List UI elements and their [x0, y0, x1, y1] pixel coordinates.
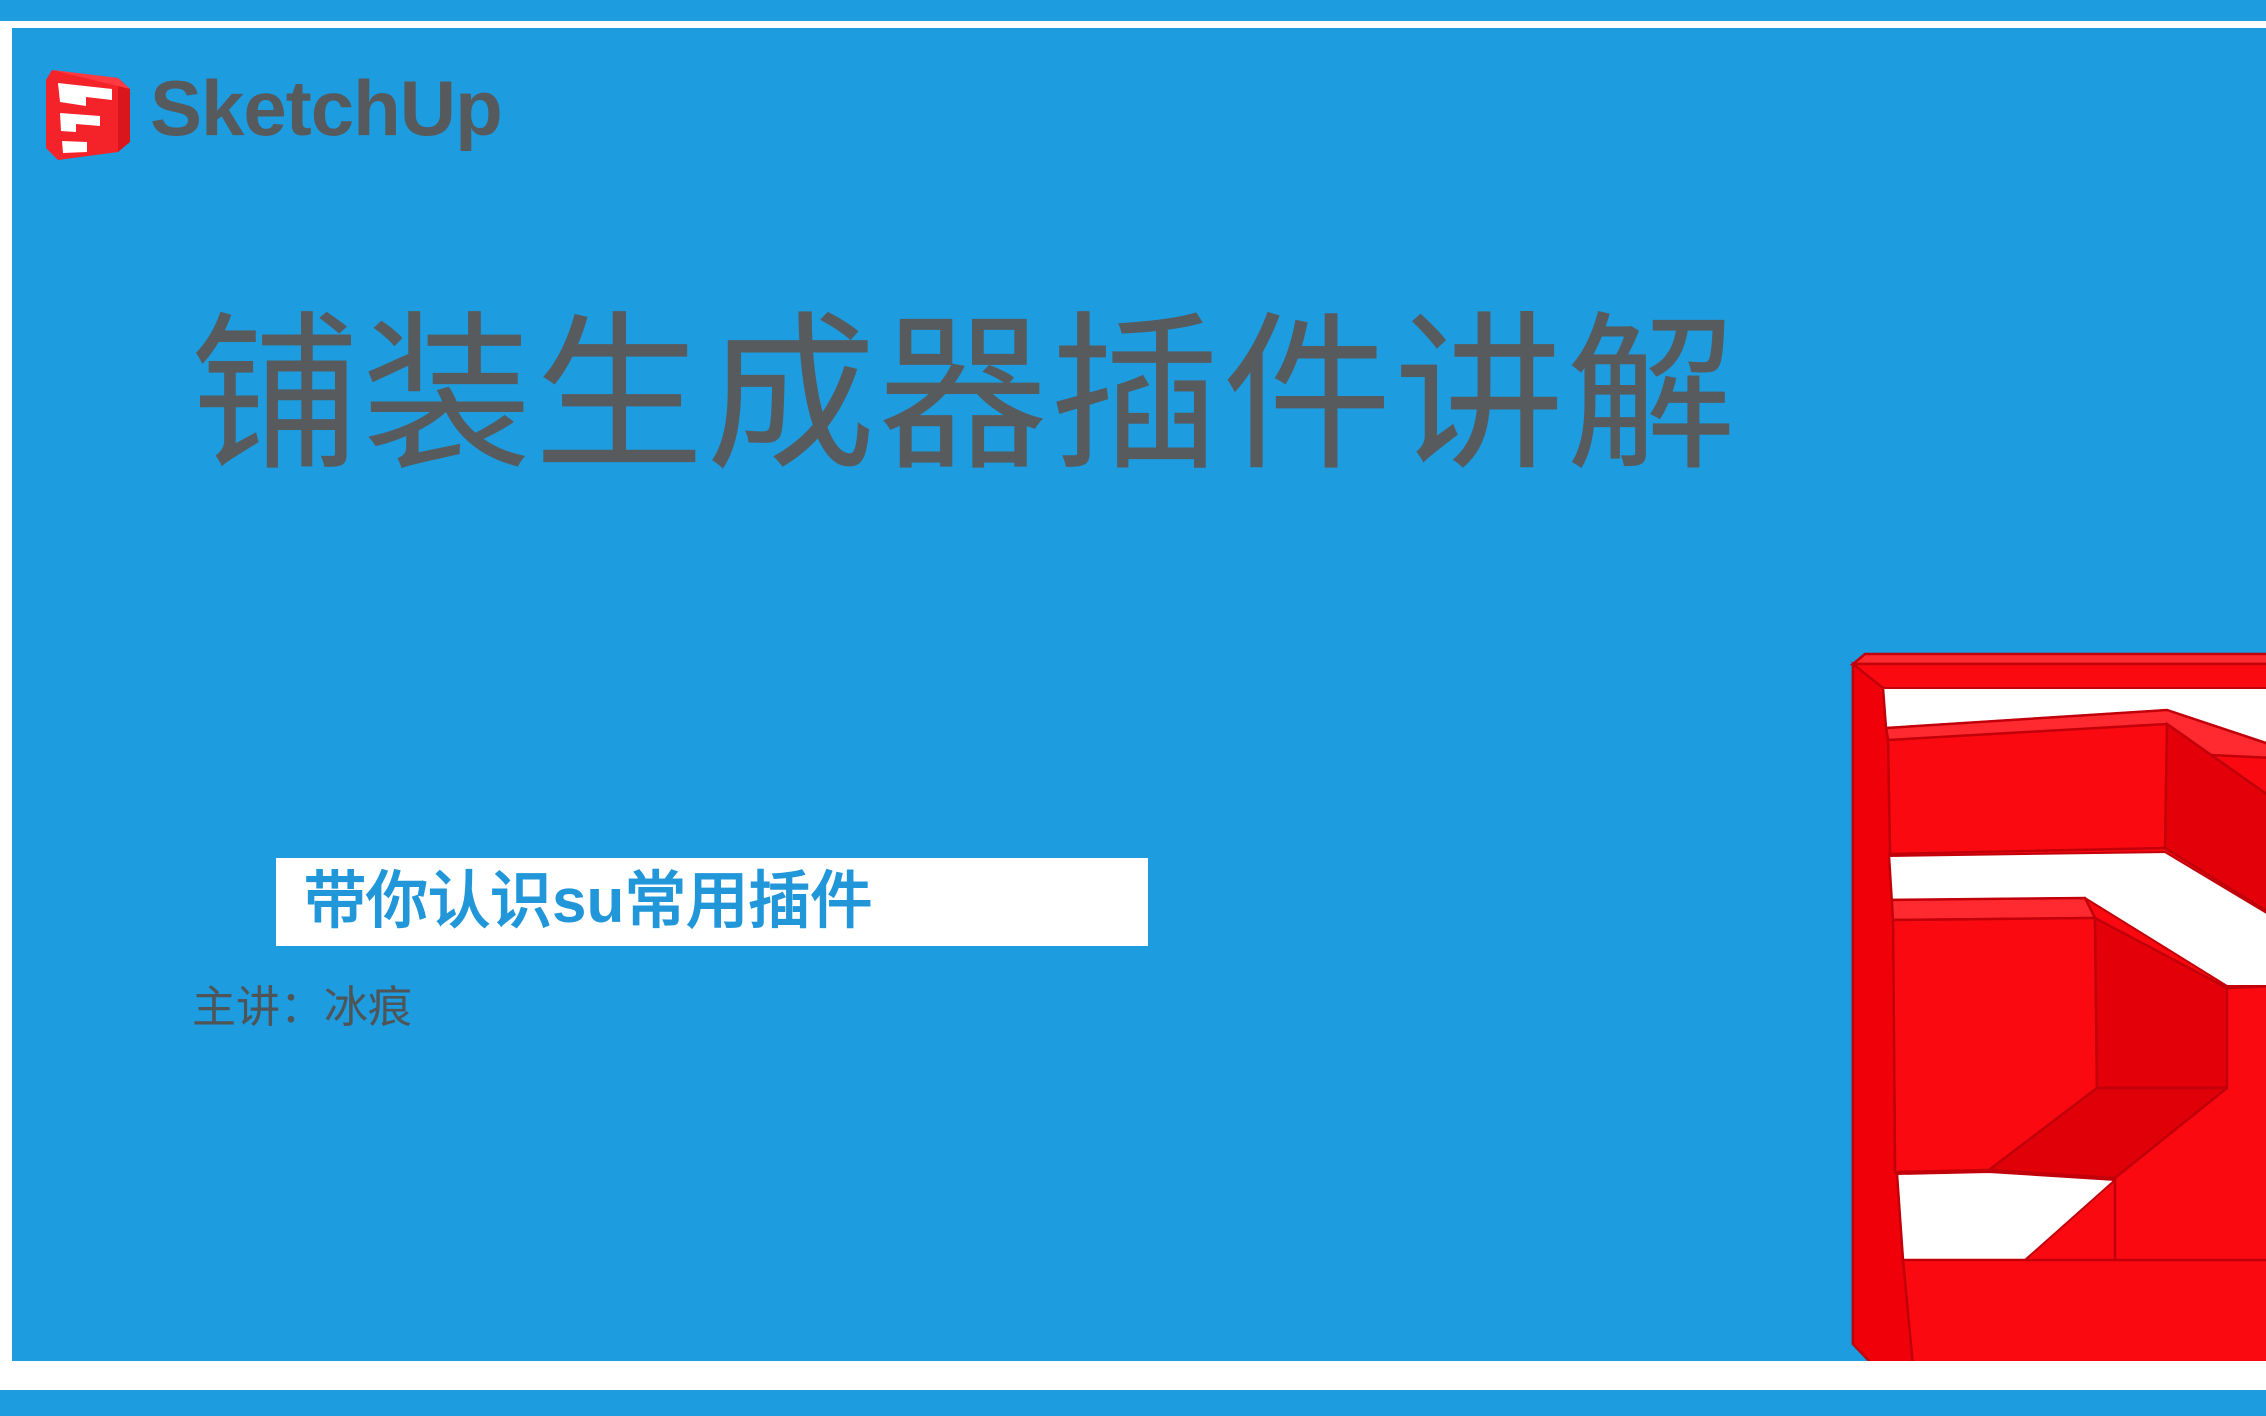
sketchup-cube-icon [30, 56, 134, 160]
bottom-edge-band [0, 1390, 2266, 1416]
slide-frame: SketchUp 铺装生成器插件讲解 带你认识su常用插件 主讲：冰痕 [0, 0, 2266, 1416]
presenter-byline: 主讲：冰痕 [192, 986, 412, 1030]
sketchup-3d-logo-icon [1265, 448, 2266, 1361]
subtitle-text: 带你认识su常用插件 [304, 871, 872, 933]
slide-canvas: SketchUp 铺装生成器插件讲解 带你认识su常用插件 主讲：冰痕 [12, 28, 2266, 1361]
subtitle-plate: 带你认识su常用插件 [276, 858, 1148, 946]
top-edge-band [0, 0, 2266, 21]
sketchup-brand-lockup: SketchUp [30, 56, 502, 160]
sketchup-wordmark: SketchUp [150, 69, 502, 147]
